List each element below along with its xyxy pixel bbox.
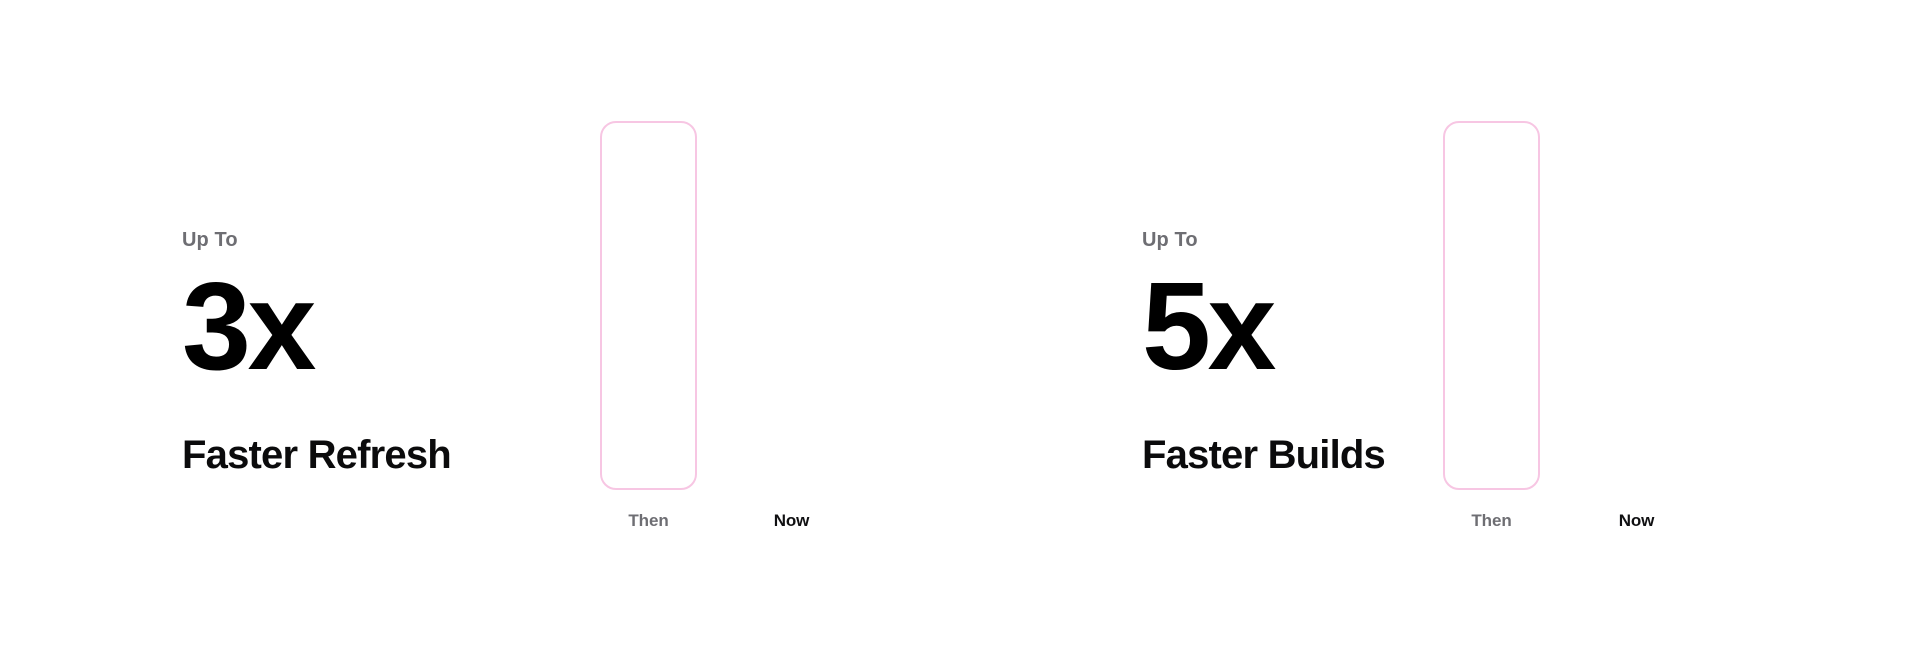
- bar-chart-faster-builds: Then Now: [960, 0, 1920, 651]
- bar-label-then: Then: [1471, 511, 1511, 531]
- performance-stats-section: Up To 3x Faster Refresh Then Now Up To 5…: [0, 0, 1920, 651]
- bar-group-now: Now: [743, 367, 840, 490]
- bar-now: [743, 367, 840, 490]
- bar-group-then: Then: [600, 121, 697, 490]
- bar-now: [1588, 414, 1685, 490]
- bar-group-now: Now: [1588, 414, 1685, 490]
- stat-panel-faster-refresh: Up To 3x Faster Refresh Then Now: [0, 0, 960, 651]
- bar-label-then: Then: [628, 511, 668, 531]
- bar-label-now: Now: [1619, 511, 1655, 531]
- bar-group-then: Then: [1443, 121, 1540, 490]
- bar-then: [1443, 121, 1540, 490]
- bar-then: [600, 121, 697, 490]
- stat-panel-faster-builds: Up To 5x Faster Builds Then Now: [960, 0, 1920, 651]
- bar-label-now: Now: [774, 511, 810, 531]
- bar-chart-faster-refresh: Then Now: [0, 0, 960, 651]
